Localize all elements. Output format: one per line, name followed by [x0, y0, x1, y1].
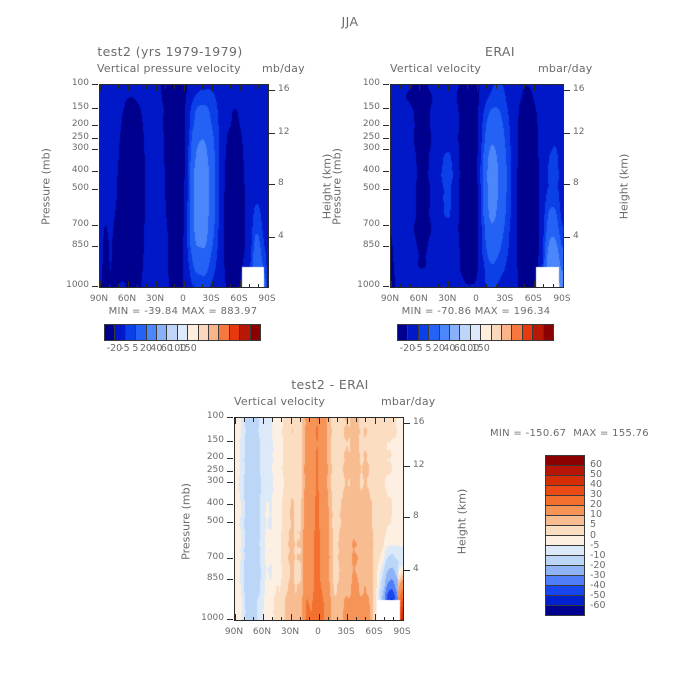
axis-tick-label: 12	[413, 460, 424, 470]
axis-tick-label: 1000	[66, 280, 89, 290]
axis-tick-label: 250	[363, 132, 380, 142]
axis-tick-mark	[467, 284, 468, 288]
axis-tick-label: 100	[207, 411, 224, 421]
axis-tick-label: 90S	[388, 627, 416, 637]
axis-tick-label: 700	[207, 552, 224, 562]
axis-tick-label: 0	[169, 294, 197, 304]
panel-erai-max-label: MAX =	[475, 306, 510, 317]
axis-tick-mark	[244, 418, 245, 422]
axis-tick-label: 30N	[276, 627, 304, 637]
axis-tick-mark	[263, 614, 264, 620]
axis-tick-label: 16	[573, 84, 584, 94]
colorbar-cell	[209, 325, 219, 340]
axis-tick-label: 150	[363, 102, 380, 112]
axis-tick-mark	[184, 85, 185, 91]
axis-tick-mark	[212, 281, 213, 287]
axis-tick-mark	[404, 466, 410, 467]
colorbar-cell	[147, 325, 157, 340]
axis-tick-label: 850	[207, 573, 224, 583]
panel-erai-min-value: -70.86	[437, 306, 471, 317]
panel-diff-min-label: MIN =	[490, 428, 522, 439]
axis-tick-label: 8	[573, 178, 579, 188]
axis-tick-label: 400	[207, 498, 224, 508]
axis-tick-mark	[137, 284, 138, 288]
axis-tick-mark	[227, 417, 233, 418]
axis-tick-mark	[92, 138, 98, 139]
axis-tick-mark	[269, 184, 275, 185]
axis-tick-label: 1000	[357, 280, 380, 290]
axis-tick-label: 4	[413, 564, 419, 574]
axis-tick-mark	[174, 85, 175, 89]
colorbar-cell	[188, 325, 198, 340]
panel-erai-max-value: 196.34	[514, 306, 551, 317]
panel-diff-max-value: 155.76	[612, 428, 649, 439]
axis-tick-mark	[92, 108, 98, 109]
axis-tick-label: 12	[278, 127, 289, 137]
axis-tick-mark	[109, 85, 110, 89]
panel-erai-left-label: Vertical velocity	[390, 62, 481, 75]
colorbar-cell	[533, 325, 543, 340]
axis-tick-label: 60N	[405, 294, 433, 304]
axis-tick-mark	[269, 133, 275, 134]
panel-test2-max-value: 883.97	[221, 306, 258, 317]
axis-tick-mark	[429, 284, 430, 288]
axis-tick-mark	[230, 284, 231, 288]
axis-tick-mark	[347, 614, 348, 620]
panel-erai: ERAI Vertical velocity mbar/day Pressure…	[340, 0, 700, 360]
axis-tick-mark	[515, 85, 516, 89]
axis-tick-mark	[438, 85, 439, 89]
axis-tick-mark	[477, 281, 478, 287]
axis-tick-mark	[383, 246, 389, 247]
axis-tick-mark	[356, 617, 357, 621]
axis-tick-mark	[524, 284, 525, 288]
axis-tick-label: 400	[72, 165, 89, 175]
colorbar-cell	[512, 325, 522, 340]
axis-tick-mark	[249, 85, 250, 89]
colorbar-tick-label: 150	[467, 343, 495, 354]
axis-tick-label: 850	[363, 240, 380, 250]
colorbar-cell	[546, 596, 584, 606]
axis-tick-mark	[383, 171, 389, 172]
colorbar-cell	[492, 325, 502, 340]
colorbar-cell	[546, 506, 584, 516]
axis-tick-mark	[438, 284, 439, 288]
axis-tick-mark	[253, 617, 254, 621]
axis-tick-mark	[272, 617, 273, 621]
axis-tick-mark	[505, 85, 506, 91]
axis-tick-label: 850	[72, 240, 89, 250]
colorbar-cell	[544, 325, 553, 340]
axis-tick-mark	[467, 85, 468, 89]
axis-tick-mark	[457, 85, 458, 89]
axis-tick-label: 90N	[376, 294, 404, 304]
axis-tick-mark	[393, 617, 394, 621]
axis-tick-mark	[564, 90, 570, 91]
axis-tick-mark	[156, 281, 157, 287]
axis-tick-label: 100	[363, 78, 380, 88]
colorbar-cell	[546, 536, 584, 546]
axis-tick-mark	[128, 85, 129, 91]
axis-tick-mark	[419, 85, 420, 91]
axis-tick-label: 30N	[141, 294, 169, 304]
axis-tick-label: 60S	[360, 627, 388, 637]
colorbar-cell	[440, 325, 450, 340]
axis-tick-mark	[410, 85, 411, 89]
panel-test2: test2 (yrs 1979-1979) Vertical pressure …	[0, 0, 340, 360]
axis-tick-mark	[249, 284, 250, 288]
axis-tick-mark	[92, 84, 98, 85]
axis-tick-mark	[300, 418, 301, 422]
axis-tick-label: 150	[72, 102, 89, 112]
axis-tick-mark	[291, 614, 292, 620]
axis-tick-label: 200	[207, 452, 224, 462]
axis-tick-label: 90S	[253, 294, 281, 304]
axis-tick-label: 16	[278, 84, 289, 94]
axis-tick-mark	[92, 125, 98, 126]
axis-tick-mark	[309, 617, 310, 621]
axis-tick-label: 200	[72, 119, 89, 129]
colorbar-cell	[450, 325, 460, 340]
axis-tick-mark	[404, 423, 410, 424]
axis-tick-mark	[383, 125, 389, 126]
axis-tick-mark	[137, 85, 138, 89]
axis-tick-mark	[383, 84, 389, 85]
colorbar-cell	[546, 576, 584, 586]
axis-tick-mark	[258, 85, 259, 89]
axis-tick-label: 4	[573, 231, 579, 241]
axis-tick-mark	[128, 281, 129, 287]
axis-tick-mark	[227, 458, 233, 459]
axis-tick-label: 30S	[332, 627, 360, 637]
panel-erai-min-label: MIN =	[402, 306, 434, 317]
axis-tick-mark	[92, 171, 98, 172]
axis-tick-mark	[184, 281, 185, 287]
axis-tick-mark	[92, 286, 98, 287]
axis-tick-label: 30N	[433, 294, 461, 304]
axis-tick-mark	[543, 284, 544, 288]
colorbar-cell	[546, 586, 584, 596]
axis-tick-mark	[240, 281, 241, 287]
axis-tick-mark	[384, 418, 385, 422]
axis-tick-mark	[240, 85, 241, 91]
axis-tick-mark	[534, 281, 535, 287]
axis-tick-mark	[92, 189, 98, 190]
axis-tick-mark	[375, 614, 376, 620]
colorbar-tick-label: -60	[590, 600, 606, 611]
axis-tick-label: 150	[207, 435, 224, 445]
panel-test2-max-label: MAX =	[182, 306, 217, 317]
colorbar-cell	[251, 325, 260, 340]
colorbar-cell	[546, 526, 584, 536]
axis-tick-mark	[156, 85, 157, 91]
axis-tick-mark	[337, 418, 338, 422]
colorbar-cell	[167, 325, 177, 340]
panel-diff-colorbar[interactable]	[545, 455, 585, 616]
axis-tick-label: 0	[462, 294, 490, 304]
axis-tick-mark	[391, 85, 392, 91]
axis-tick-mark	[328, 418, 329, 422]
axis-tick-mark	[543, 85, 544, 89]
axis-tick-label: 90N	[85, 294, 113, 304]
panel-diff-min-value: -150.67	[526, 428, 567, 439]
axis-tick-mark	[92, 246, 98, 247]
axis-tick-mark	[383, 189, 389, 190]
axis-tick-mark	[227, 482, 233, 483]
panel-test2-yticks: 1001502002503004005007008501000	[60, 84, 98, 286]
axis-tick-mark	[174, 284, 175, 288]
axis-tick-label: 60S	[519, 294, 547, 304]
colorbar-cell	[546, 456, 584, 466]
axis-tick-mark	[319, 418, 320, 424]
panel-diff-y2ticks: 161284	[404, 417, 434, 619]
colorbar-cell	[178, 325, 188, 340]
colorbar-cell	[546, 496, 584, 506]
colorbar-cell	[460, 325, 470, 340]
axis-tick-label: 4	[278, 231, 284, 241]
panel-erai-plot	[390, 84, 564, 288]
axis-tick-mark	[486, 85, 487, 89]
panel-diff-right-label: mbar/day	[381, 395, 436, 408]
axis-tick-mark	[212, 85, 213, 91]
colorbar-cell	[502, 325, 512, 340]
axis-tick-mark	[269, 90, 275, 91]
axis-tick-label: 12	[573, 127, 584, 137]
axis-tick-mark	[505, 281, 506, 287]
colorbar-cell	[105, 325, 115, 340]
axis-tick-mark	[300, 617, 301, 621]
axis-tick-mark	[553, 284, 554, 288]
axis-tick-mark	[109, 284, 110, 288]
axis-tick-mark	[328, 617, 329, 621]
colorbar-cell	[240, 325, 250, 340]
colorbar-cell	[230, 325, 240, 340]
panel-test2-title: test2 (yrs 1979-1979)	[20, 44, 320, 59]
panel-erai-colorbar-labels: -20-55204060100150	[397, 343, 554, 357]
panel-erai-ylabel: Pressure (mb)	[331, 137, 344, 237]
axis-tick-mark	[193, 85, 194, 89]
axis-tick-mark	[100, 281, 101, 287]
colorbar-cell	[157, 325, 167, 340]
panel-test2-min-label: MIN =	[109, 306, 141, 317]
axis-tick-mark	[384, 617, 385, 621]
colorbar-cell	[546, 476, 584, 486]
axis-tick-label: 500	[72, 183, 89, 193]
axis-tick-mark	[347, 418, 348, 424]
axis-tick-mark	[457, 284, 458, 288]
panel-erai-right-label: mbar/day	[538, 62, 593, 75]
axis-tick-mark	[253, 418, 254, 422]
axis-tick-mark	[100, 85, 101, 91]
axis-tick-label: 90N	[220, 627, 248, 637]
colorbar-cell	[546, 566, 584, 576]
axis-tick-mark	[165, 85, 166, 89]
panel-diff-max-label: MAX =	[573, 428, 608, 439]
colorbar-cell	[136, 325, 146, 340]
axis-tick-mark	[383, 149, 389, 150]
axis-tick-mark	[227, 579, 233, 580]
axis-tick-mark	[515, 284, 516, 288]
axis-tick-mark	[564, 184, 570, 185]
axis-tick-label: 250	[72, 132, 89, 142]
axis-tick-mark	[383, 286, 389, 287]
colorbar-cell	[481, 325, 491, 340]
colorbar-cell	[408, 325, 418, 340]
colorbar-cell	[219, 325, 229, 340]
axis-tick-mark	[227, 471, 233, 472]
panel-erai-title: ERAI	[350, 44, 650, 59]
colorbar-cell	[546, 516, 584, 526]
axis-tick-mark	[375, 418, 376, 424]
colorbar-cell	[546, 606, 584, 615]
panel-test2-ylabel: Pressure (mb)	[40, 137, 53, 237]
axis-tick-mark	[400, 85, 401, 89]
panel-diff-colorbar-labels: 60504030201050-5-10-20-30-40-50-60	[590, 455, 630, 616]
panel-test2-minmax: MIN = -39.84 MAX = 883.97	[99, 306, 267, 317]
panel-diff-title: test2 - ERAI	[215, 377, 445, 392]
axis-tick-mark	[202, 85, 203, 89]
axis-tick-mark	[393, 418, 394, 422]
axis-tick-mark	[419, 281, 420, 287]
colorbar-tick-label: 150	[174, 343, 202, 354]
axis-tick-mark	[486, 284, 487, 288]
panel-test2-plot	[99, 84, 269, 288]
colorbar-cell	[199, 325, 209, 340]
axis-tick-mark	[281, 418, 282, 422]
axis-tick-mark	[477, 85, 478, 91]
axis-tick-label: 90S	[548, 294, 576, 304]
axis-tick-label: 8	[278, 178, 284, 188]
axis-tick-label: 500	[363, 183, 380, 193]
axis-tick-mark	[553, 85, 554, 89]
panel-test2-right-label: mb/day	[262, 62, 305, 75]
axis-tick-mark	[92, 149, 98, 150]
panel-diff-yticks: 1001502002503004005007008501000	[196, 417, 233, 619]
axis-tick-mark	[564, 133, 570, 134]
axis-tick-mark	[146, 85, 147, 89]
colorbar-cell	[546, 556, 584, 566]
axis-tick-label: 8	[413, 511, 419, 521]
axis-tick-mark	[564, 237, 570, 238]
axis-tick-mark	[365, 617, 366, 621]
axis-tick-label: 30S	[491, 294, 519, 304]
axis-tick-mark	[227, 558, 233, 559]
axis-tick-mark	[227, 504, 233, 505]
axis-tick-mark	[230, 85, 231, 89]
axis-tick-mark	[258, 284, 259, 288]
axis-tick-mark	[383, 108, 389, 109]
axis-tick-mark	[356, 418, 357, 422]
axis-tick-mark	[193, 284, 194, 288]
axis-tick-mark	[404, 517, 410, 518]
panel-test2-left-label: Vertical pressure velocity	[97, 62, 241, 75]
axis-tick-label: 200	[363, 119, 380, 129]
axis-tick-mark	[244, 617, 245, 621]
axis-tick-mark	[221, 85, 222, 89]
panel-erai-y2ticks: 161284	[564, 84, 594, 286]
axis-tick-mark	[118, 284, 119, 288]
axis-tick-label: 60N	[248, 627, 276, 637]
axis-tick-mark	[383, 138, 389, 139]
panel-diff-plot	[234, 417, 404, 621]
axis-tick-label: 0	[304, 627, 332, 637]
axis-tick-label: 700	[363, 219, 380, 229]
axis-tick-mark	[291, 418, 292, 424]
axis-tick-label: 250	[207, 465, 224, 475]
axis-tick-mark	[235, 418, 236, 424]
axis-tick-mark	[146, 284, 147, 288]
axis-tick-label: 400	[363, 165, 380, 175]
colorbar-cell	[471, 325, 481, 340]
axis-tick-mark	[227, 522, 233, 523]
axis-tick-mark	[496, 85, 497, 89]
panel-diff-xticks: 90N60N30N030S60S90S	[234, 620, 402, 644]
axis-tick-mark	[235, 614, 236, 620]
axis-tick-mark	[165, 284, 166, 288]
axis-tick-mark	[227, 619, 233, 620]
axis-tick-label: 60N	[113, 294, 141, 304]
colorbar-cell	[546, 466, 584, 476]
panel-erai-y2label: Height (km)	[618, 137, 631, 237]
figure-root: JJA test2 (yrs 1979-1979) Vertical press…	[0, 0, 700, 700]
axis-tick-label: 300	[207, 476, 224, 486]
axis-tick-label: 300	[363, 143, 380, 153]
panel-erai-minmax: MIN = -70.86 MAX = 196.34	[390, 306, 562, 317]
axis-tick-mark	[400, 284, 401, 288]
axis-tick-label: 1000	[201, 613, 224, 623]
axis-tick-mark	[410, 284, 411, 288]
colorbar-cell	[546, 486, 584, 496]
axis-tick-mark	[221, 284, 222, 288]
panel-diff-minmax: MIN = -150.67 MAX = 155.76	[490, 428, 649, 439]
axis-tick-mark	[429, 85, 430, 89]
colorbar-cell	[115, 325, 125, 340]
axis-tick-label: 700	[72, 219, 89, 229]
colorbar-cell	[429, 325, 439, 340]
panel-test2-colorbar-labels: -20-55204060100150	[104, 343, 261, 357]
panel-test2-y2ticks: 161284	[269, 84, 299, 286]
axis-tick-mark	[534, 85, 535, 91]
panel-erai-colorbar[interactable]	[397, 324, 554, 341]
axis-tick-mark	[92, 225, 98, 226]
axis-tick-mark	[227, 441, 233, 442]
axis-tick-mark	[365, 418, 366, 422]
colorbar-cell	[546, 546, 584, 556]
panel-test2-colorbar[interactable]	[104, 324, 261, 341]
axis-tick-label: 16	[413, 417, 424, 427]
axis-tick-label: 300	[72, 143, 89, 153]
panel-diff-y2label: Height (km)	[456, 472, 469, 572]
axis-tick-mark	[281, 617, 282, 621]
axis-tick-mark	[496, 284, 497, 288]
axis-tick-mark	[337, 617, 338, 621]
axis-tick-mark	[404, 570, 410, 571]
axis-tick-mark	[263, 418, 264, 424]
panel-diff: test2 - ERAI Vertical velocity mbar/day …	[180, 360, 700, 700]
panel-diff-left-label: Vertical velocity	[234, 395, 325, 408]
panel-diff-ylabel: Pressure (mb)	[180, 472, 193, 572]
axis-tick-mark	[202, 284, 203, 288]
colorbar-cell	[126, 325, 136, 340]
colorbar-cell	[419, 325, 429, 340]
panel-erai-yticks: 1001502002503004005007008501000	[352, 84, 389, 286]
axis-tick-mark	[118, 85, 119, 89]
axis-tick-mark	[391, 281, 392, 287]
axis-tick-mark	[269, 237, 275, 238]
axis-tick-label: 500	[207, 516, 224, 526]
panel-test2-min-value: -39.84	[144, 306, 178, 317]
axis-tick-label: 60S	[225, 294, 253, 304]
